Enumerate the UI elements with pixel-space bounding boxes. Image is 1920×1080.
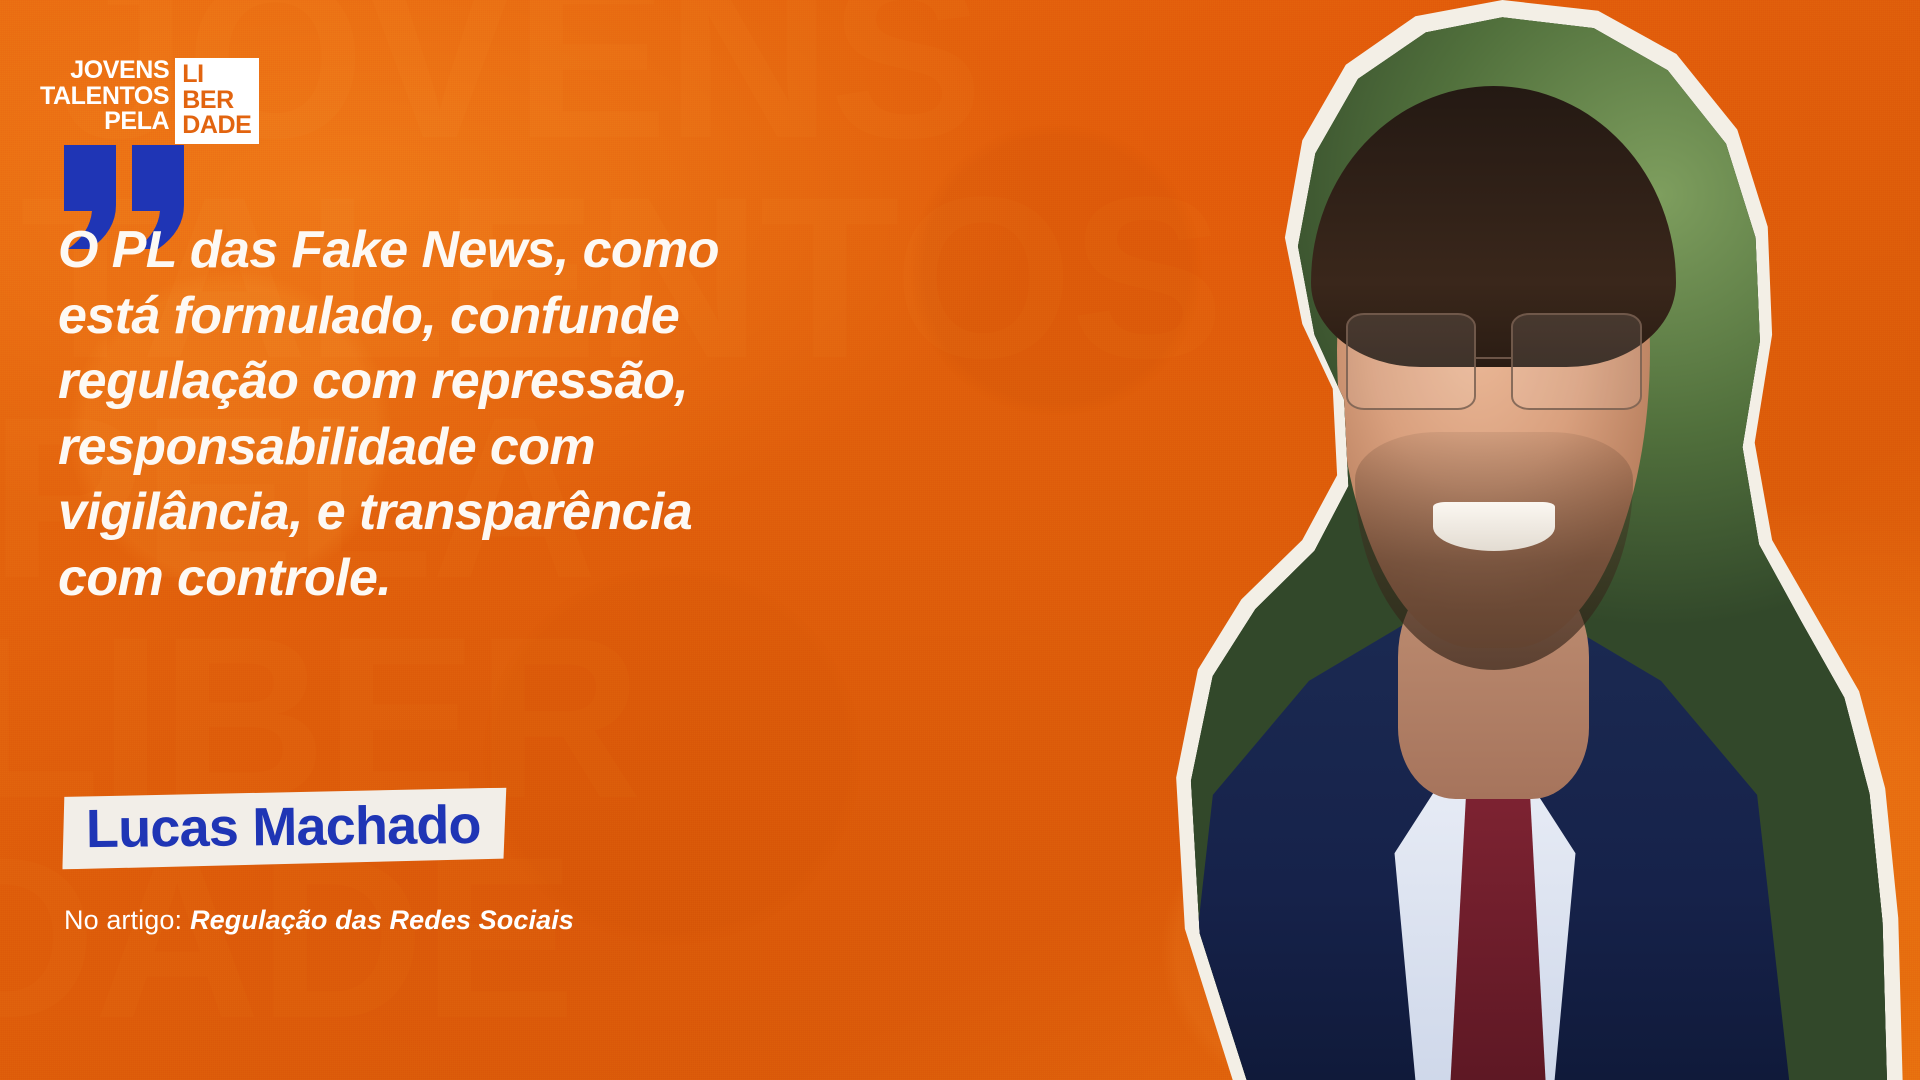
quote-card: JOVENS TALENTOS PELA LIBER DADE JOVENS T… bbox=[0, 0, 1920, 1080]
author-name-banner: Lucas Machado bbox=[62, 788, 508, 870]
eyeglasses-icon bbox=[1346, 313, 1642, 410]
quote-line-4: responsabilidade com bbox=[58, 415, 848, 481]
logo-box-dade: DADE bbox=[182, 113, 251, 139]
logo-line-pela: PELA bbox=[104, 109, 169, 135]
quote-text: O PL das Fake News, como está formulado,… bbox=[58, 218, 848, 611]
portrait-figure bbox=[1050, 0, 1920, 1080]
logo-line-jovens: JOVENS bbox=[70, 58, 169, 84]
logo-wordmark: JOVENS TALENTOS PELA bbox=[40, 58, 175, 135]
logo-liberdade-box: LI BER DADE bbox=[175, 58, 259, 144]
logo-box-li: LI bbox=[182, 62, 203, 88]
quote-line-5: vigilância, e transparência bbox=[58, 480, 848, 546]
brand-logo[interactable]: JOVENS TALENTOS PELA LI BER DADE bbox=[40, 58, 259, 144]
logo-line-talentos: TALENTOS bbox=[40, 84, 169, 110]
article-title: Regulação das Redes Sociais bbox=[190, 905, 574, 935]
article-prefix: No artigo: bbox=[64, 905, 182, 935]
quote-line-6: com controle. bbox=[58, 546, 848, 612]
author-name: Lucas Machado bbox=[86, 798, 481, 857]
logo-box-ber: BER bbox=[182, 88, 234, 114]
quote-line-3: regulação com repressão, bbox=[58, 349, 848, 415]
portrait-smile bbox=[1433, 502, 1555, 551]
quote-line-2: está formulado, confunde bbox=[58, 284, 848, 350]
article-attribution: No artigo:Regulação das Redes Sociais bbox=[64, 905, 574, 936]
portrait-photo bbox=[1050, 0, 1920, 1080]
quote-line-1: O PL das Fake News, como bbox=[58, 218, 848, 284]
